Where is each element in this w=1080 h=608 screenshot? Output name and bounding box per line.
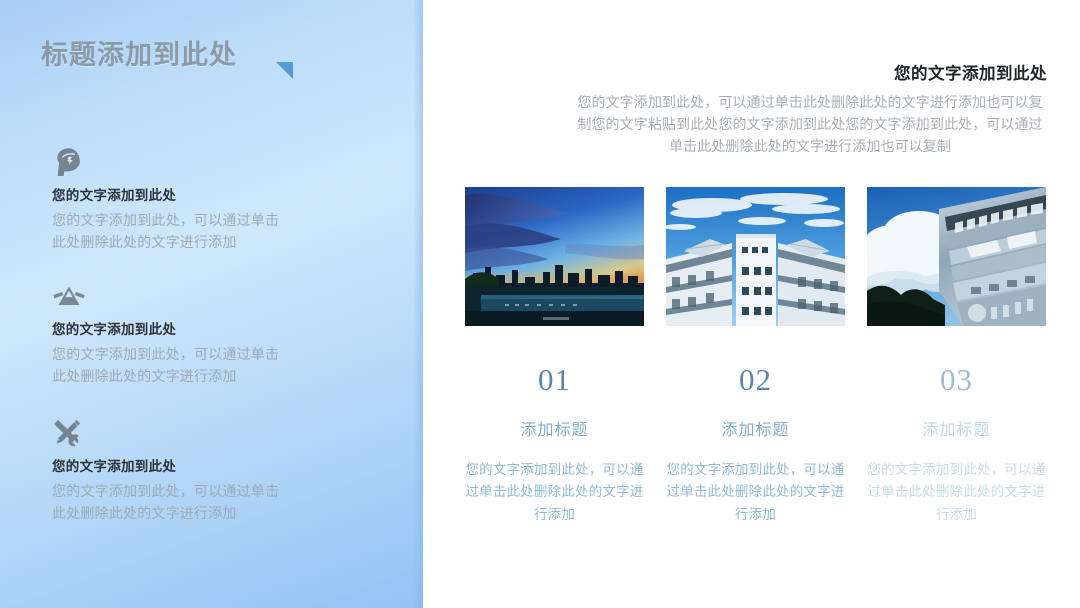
slide-canvas: 标题添加到此处 您的文字添加到此处 您的文字添加到此处，可以通过单击此处删除此处…	[0, 0, 1080, 608]
sunset-city-skyline-photo	[465, 187, 644, 326]
card-number: 03	[867, 364, 1046, 395]
feature-body: 您的文字添加到此处，可以通过单击此处删除此处的文字进行添加	[52, 344, 288, 387]
page-title: 标题添加到此处	[41, 33, 237, 72]
feature-block-3: 您的文字添加到此处 您的文字添加到此处，可以通过单击此处删除此处的文字进行添加	[52, 418, 300, 524]
triangle-accent-icon	[276, 62, 293, 79]
head-brain-icon	[52, 147, 86, 177]
feature-heading: 您的文字添加到此处	[52, 318, 300, 338]
card-02[interactable]: 02 添加标题 您的文字添加到此处，可以通过单击此处删除此处的文字进行添加	[666, 187, 845, 526]
card-03[interactable]: 03 添加标题 您的文字添加到此处，可以通过单击此处删除此处的文字进行添加	[867, 187, 1046, 526]
card-subtitle: 添加标题	[666, 416, 845, 440]
left-blue-panel: 标题添加到此处 您的文字添加到此处 您的文字添加到此处，可以通过单击此处删除此处…	[0, 0, 423, 608]
card-01[interactable]: 01 添加标题 您的文字添加到此处，可以通过单击此处删除此处的文字进行添加	[465, 187, 644, 526]
intro-heading: 您的文字添加到此处	[894, 60, 1047, 84]
feature-body: 您的文字添加到此处，可以通过单击此处删除此处的文字进行添加	[52, 210, 288, 253]
card-number: 01	[465, 364, 644, 395]
feature-heading: 您的文字添加到此处	[52, 184, 300, 204]
glass-facade-building-clouds-photo	[867, 187, 1046, 326]
card-subtitle: 添加标题	[465, 416, 644, 440]
card-number: 02	[666, 364, 845, 395]
feature-block-1: 您的文字添加到此处 您的文字添加到此处，可以通过单击此处删除此处的文字进行添加	[52, 147, 300, 253]
white-building-courtyard-photo	[666, 187, 845, 326]
card-subtitle: 添加标题	[867, 416, 1046, 440]
feature-heading: 您的文字添加到此处	[52, 455, 300, 475]
mountain-peak-icon	[52, 281, 86, 311]
intro-body-text: 您的文字添加到此处，可以通过单击此处删除此处的文字进行添加也可以复制您的文字粘贴…	[573, 92, 1047, 158]
feature-block-2: 您的文字添加到此处 您的文字添加到此处，可以通过单击此处删除此处的文字进行添加	[52, 281, 300, 387]
card-description: 您的文字添加到此处，可以通过单击此处删除此处的文字进行添加	[666, 459, 845, 526]
right-content-area: 您的文字添加到此处 您的文字添加到此处，可以通过单击此处删除此处的文字进行添加也…	[433, 0, 1080, 608]
pencil-wrench-icon	[52, 418, 86, 448]
feature-body: 您的文字添加到此处，可以通过单击此处删除此处的文字进行添加	[52, 481, 288, 524]
card-row: 01 添加标题 您的文字添加到此处，可以通过单击此处删除此处的文字进行添加	[465, 187, 1046, 526]
card-description: 您的文字添加到此处，可以通过单击此处删除此处的文字进行添加	[465, 459, 644, 526]
card-description: 您的文字添加到此处，可以通过单击此处删除此处的文字进行添加	[867, 459, 1046, 526]
